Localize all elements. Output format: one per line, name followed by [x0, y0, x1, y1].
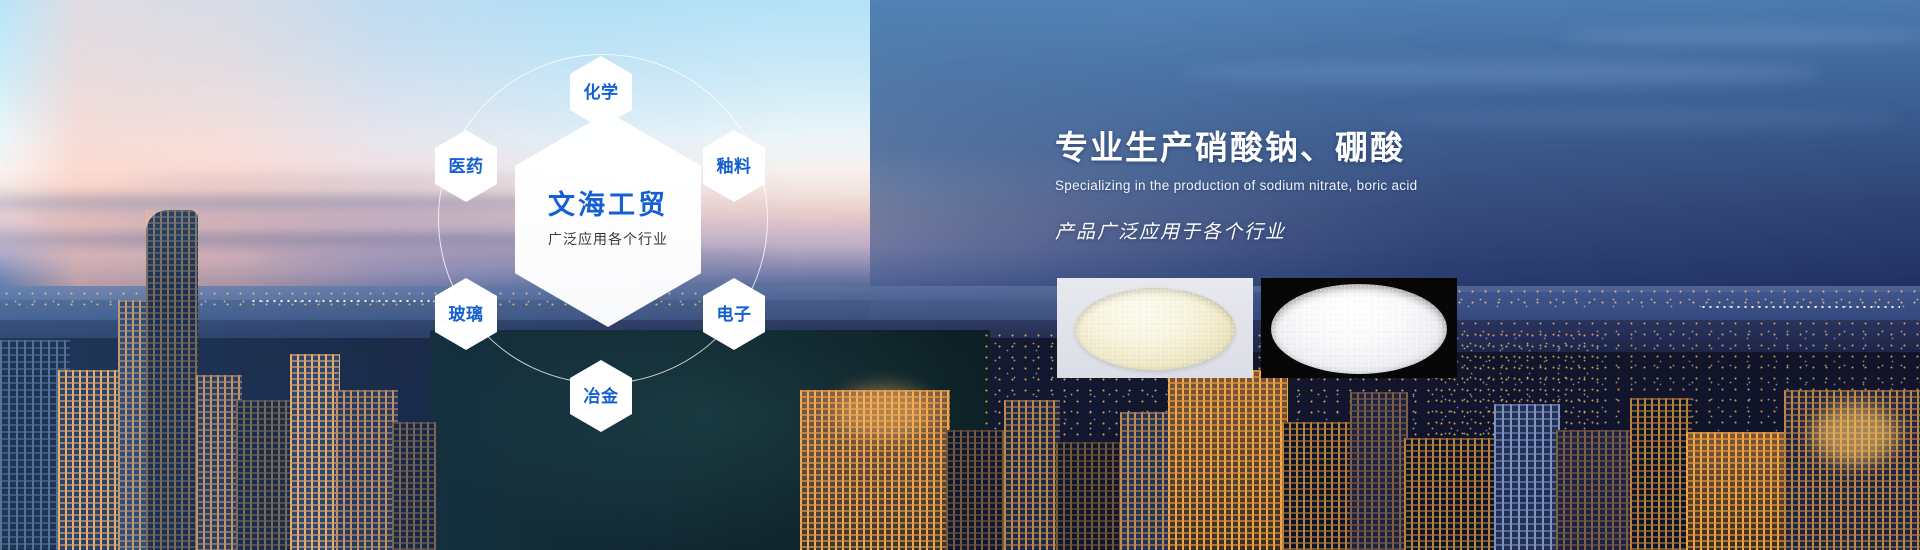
tagline: 产品广泛应用于各个行业: [1055, 217, 1615, 244]
hex-node-label: 电子: [717, 306, 752, 323]
top-highlight: [0, 0, 1920, 300]
subheadline-english: Specializing in the production of sodium…: [1055, 178, 1615, 193]
product-photo-group: [1057, 278, 1457, 378]
powder-pile: [1075, 288, 1235, 370]
background-photo: [0, 0, 1920, 550]
hex-node-label: 医药: [449, 158, 484, 175]
product-photo-boric-acid[interactable]: [1261, 278, 1457, 378]
company-tagline: 广泛应用各个行业: [548, 229, 668, 249]
headline-block: 专业生产硝酸钠、硼酸 Specializing in the productio…: [1055, 128, 1615, 244]
industry-hex-diagram: 化学 釉料 电子 冶金 玻璃 医药 文海工贸 广泛应用各个行业: [418, 22, 798, 442]
powder-grain-texture: [1271, 284, 1447, 374]
headline: 专业生产硝酸钠、硼酸: [1055, 128, 1615, 168]
promo-banner: 化学 釉料 电子 冶金 玻璃 医药 文海工贸 广泛应用各个行业 专业生产硝酸钠、…: [0, 0, 1920, 550]
hex-node-label: 釉料: [717, 158, 752, 175]
hex-node-label: 化学: [584, 84, 619, 101]
hex-node-label: 冶金: [584, 388, 619, 405]
powder-pile: [1271, 284, 1447, 374]
product-photo-sodium-nitrate[interactable]: [1057, 278, 1253, 378]
powder-grain-texture: [1075, 288, 1235, 370]
hex-node-label: 玻璃: [449, 306, 484, 323]
company-name: 文海工贸: [548, 190, 668, 221]
